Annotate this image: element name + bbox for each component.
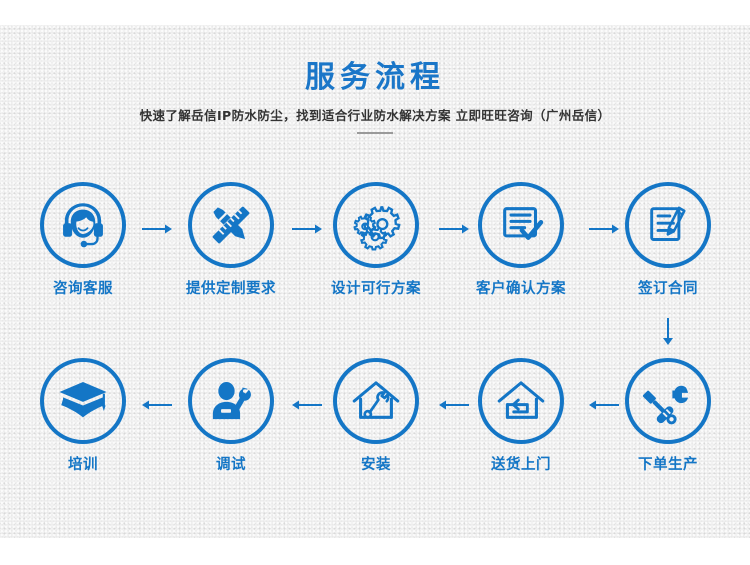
arrow-down-icon bbox=[652, 316, 684, 348]
flow-step-label: 调试 bbox=[176, 453, 286, 474]
page-root: 服务流程 快速了解岳信IP防水防尘，找到适合行业防水解决方案 立即旺旺咨询（广州… bbox=[0, 0, 750, 565]
arrow-right-icon bbox=[290, 222, 324, 236]
flow-step-home-delivery[interactable]: 送货上门 bbox=[466, 358, 576, 474]
flow-step-installation[interactable]: 安装 bbox=[321, 358, 431, 474]
flow-step-debugging[interactable]: 调试 bbox=[176, 358, 286, 474]
arrow-left-icon bbox=[290, 398, 324, 412]
flow-step-sign-contract[interactable]: 签订合同 bbox=[613, 182, 723, 298]
graduation-book-icon bbox=[40, 358, 126, 444]
person-wrench-icon bbox=[188, 358, 274, 444]
flow-step-label: 咨询客服 bbox=[28, 277, 138, 298]
flow-row-2: 培训 调试 bbox=[0, 358, 750, 476]
flow-step-label: 安装 bbox=[321, 453, 431, 474]
wrench-screwdriver-icon bbox=[625, 358, 711, 444]
arrow-right-icon bbox=[140, 222, 174, 236]
flow-step-consult[interactable]: 咨询客服 bbox=[28, 182, 138, 298]
flow-step-training[interactable]: 培训 bbox=[28, 358, 138, 474]
pencil-ruler-icon bbox=[188, 182, 274, 268]
arrow-left-icon bbox=[140, 398, 174, 412]
flow-step-label: 送货上门 bbox=[466, 453, 576, 474]
flow-step-label: 培训 bbox=[28, 453, 138, 474]
flow-step-label: 客户确认方案 bbox=[466, 277, 576, 298]
house-delivery-arrow-icon bbox=[478, 358, 564, 444]
house-wrench-icon bbox=[333, 358, 419, 444]
flow-step-label: 设计可行方案 bbox=[321, 277, 431, 298]
gears-icon bbox=[333, 182, 419, 268]
page-header: 服务流程 快速了解岳信IP防水防尘，找到适合行业防水解决方案 立即旺旺咨询（广州… bbox=[0, 60, 750, 134]
flow-row-1: 咨询客服 bbox=[0, 182, 750, 300]
document-check-icon bbox=[478, 182, 564, 268]
header-divider bbox=[357, 132, 393, 134]
flow-step-label: 签订合同 bbox=[613, 277, 723, 298]
flow-step-custom-requirements[interactable]: 提供定制要求 bbox=[176, 182, 286, 298]
document-pen-icon bbox=[625, 182, 711, 268]
page-title: 服务流程 bbox=[0, 60, 750, 96]
flow-step-customer-confirm[interactable]: 客户确认方案 bbox=[466, 182, 576, 298]
page-content: 服务流程 快速了解岳信IP防水防尘，找到适合行业防水解决方案 立即旺旺咨询（广州… bbox=[0, 0, 750, 565]
flow-step-label: 提供定制要求 bbox=[176, 277, 286, 298]
page-subtitle: 快速了解岳信IP防水防尘，找到适合行业防水解决方案 立即旺旺咨询（广州岳信） bbox=[0, 105, 750, 124]
headset-support-icon bbox=[40, 182, 126, 268]
flow-step-design-solution[interactable]: 设计可行方案 bbox=[321, 182, 431, 298]
flow-step-label: 下单生产 bbox=[613, 453, 723, 474]
flow-step-order-production[interactable]: 下单生产 bbox=[613, 358, 723, 474]
